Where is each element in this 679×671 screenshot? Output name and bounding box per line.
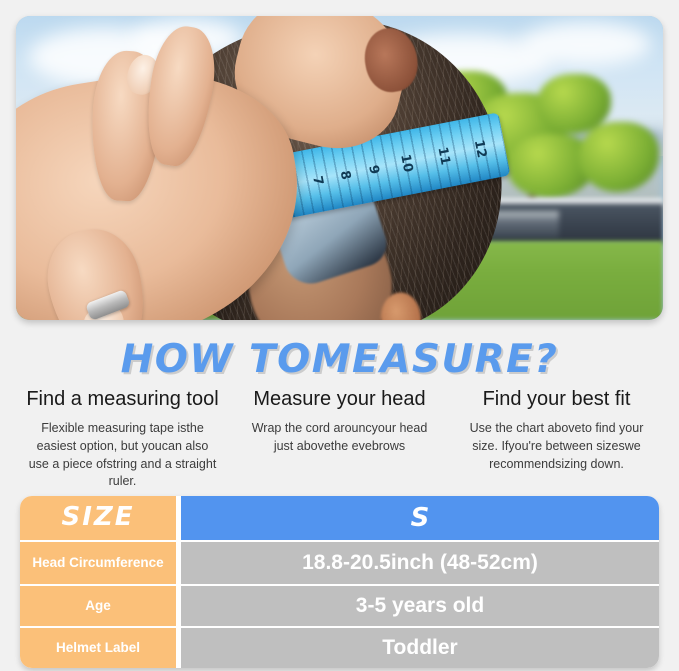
table-row-label: Helmet Label — [20, 628, 176, 668]
steps-section: Find a measuring tool Flexible measuring… — [14, 388, 665, 491]
table-row: Head Circumference 18.8-20.5inch (48-52c… — [20, 542, 659, 584]
tape-number: 9 — [365, 163, 381, 175]
step-measure-your-head: Measure your head Wrap the cord arouncyo… — [231, 388, 448, 491]
table-row-value: 18.8-20.5inch (48-52cm) — [181, 542, 659, 584]
page-title: HOW TOMEASURE? — [0, 337, 679, 382]
tape-number: 11 — [434, 145, 452, 166]
step-body: Wrap the cord arouncyour head just above… — [245, 420, 435, 456]
cloud — [521, 22, 651, 66]
tape-number: 12 — [471, 138, 489, 159]
table-row-label: SIZE — [20, 496, 176, 540]
table-row-label: Head Circumference — [20, 542, 176, 584]
tape-number: 8 — [337, 169, 353, 181]
table-row: Helmet Label Toddler — [20, 628, 659, 668]
step-heading: Measure your head — [241, 388, 438, 411]
table-row: SIZE S — [20, 496, 659, 540]
step-body: Use the chart aboveto find your size. If… — [462, 420, 652, 473]
table-row-value: Toddler — [181, 628, 659, 668]
table-row-value: S — [181, 496, 659, 540]
table-row-value: 3-5 years old — [181, 586, 659, 626]
tree-foliage — [579, 122, 659, 192]
step-find-measuring-tool: Find a measuring tool Flexible measuring… — [14, 388, 231, 491]
table-row: Age 3-5 years old — [20, 586, 659, 626]
tape-number: 7 — [309, 174, 325, 186]
size-chart-table: SIZE S Head Circumference 18.8-20.5inch … — [20, 496, 659, 668]
measuring-photo: 93 94 3 4 5 6 7 8 9 10 11 12 — [16, 16, 663, 320]
table-row-label: Age — [20, 586, 176, 626]
step-heading: Find your best fit — [458, 388, 655, 411]
step-find-your-best-fit: Find your best fit Use the chart aboveto… — [448, 388, 665, 491]
photo-scene: 93 94 3 4 5 6 7 8 9 10 11 12 — [16, 16, 663, 320]
step-heading: Find a measuring tool — [24, 388, 221, 411]
step-body: Flexible measuring tape isthe easiest op… — [28, 420, 218, 491]
tape-number: 10 — [396, 152, 414, 173]
